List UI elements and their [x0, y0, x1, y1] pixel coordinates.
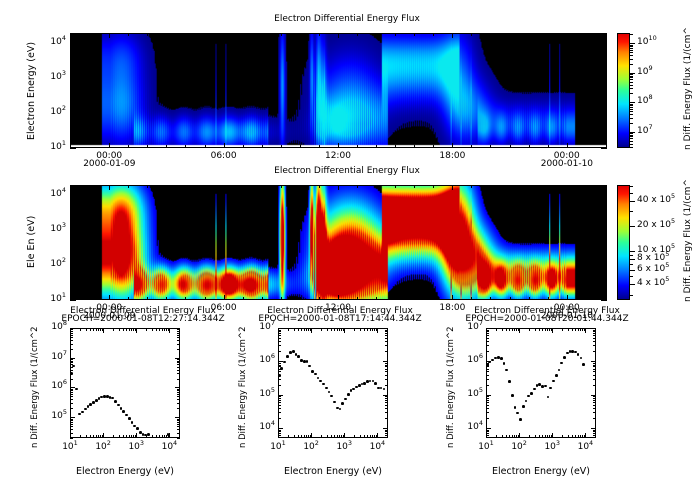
cbtick-top-3: 1010 [637, 37, 657, 47]
data-point [374, 382, 377, 385]
ytick-spectrogram_top-4: 104 [38, 37, 66, 47]
spectrum-3-xtick-2: 102 [503, 442, 535, 452]
spectrum-3-xtick-1: 101 [470, 442, 502, 452]
colorbar-mid [617, 185, 630, 300]
spectrum-2-xtick-2: 102 [295, 442, 327, 452]
data-point [95, 399, 98, 402]
ytick-spectrogram_top-2: 102 [38, 107, 66, 117]
spectrum-1-subtitle: EPOCH=2000-01-08T12:27:14.344Z [50, 314, 236, 324]
colorbar-top [617, 33, 630, 148]
cbtick-mid-4: 6 x 105 [637, 264, 669, 274]
data-point [78, 413, 81, 416]
data-point [322, 383, 325, 386]
xtick-spectrogram_top-2: 12:00 [320, 151, 356, 161]
data-point [125, 414, 128, 417]
spectrum-2-ytick-0: 104 [246, 422, 275, 432]
data-point [120, 407, 123, 410]
data-point [508, 380, 511, 383]
data-point [325, 387, 328, 390]
spectrum-1-ytick-3: 108 [38, 322, 67, 332]
spectrum-3-xtick-4: 104 [569, 442, 601, 452]
xtick-spectrogram_mid-1: 06:00 [206, 303, 242, 313]
spectrum-1-xlabel: Electron Energy (eV) [64, 466, 186, 477]
xtick-spectrogram_top-1: 06:00 [206, 151, 242, 161]
data-point [84, 408, 87, 411]
data-point [344, 398, 347, 401]
spectrum-2-plot [278, 328, 388, 438]
spectrum-1-ytick-1: 106 [38, 381, 67, 391]
data-point [297, 355, 300, 358]
data-point [341, 402, 344, 405]
spectrum-2-ytick-3: 107 [246, 322, 275, 332]
spectrum-3-ytick-3: 107 [454, 322, 483, 332]
data-point [292, 350, 295, 353]
data-point [500, 357, 503, 360]
cbtick-top-0: 107 [637, 126, 653, 136]
data-point [122, 410, 125, 413]
data-point [114, 400, 117, 403]
spectrum-1-xtick-2: 102 [87, 442, 119, 452]
spectrum-3-ytick-2: 106 [454, 355, 483, 365]
data-point [519, 418, 522, 421]
panel-title-top: Electron Differential Energy Flux [247, 14, 447, 24]
data-point [167, 433, 170, 436]
data-point [117, 404, 120, 407]
data-point [314, 373, 317, 376]
data-point [582, 363, 585, 366]
ytick-spectrogram_mid-4: 104 [38, 189, 66, 199]
data-point [533, 388, 536, 391]
colorbar-mid-label: n Diff. Energy Flux (1/(cm^ [683, 179, 693, 302]
data-point [560, 362, 563, 365]
spectrum-1-xtick-3: 103 [120, 442, 152, 452]
data-point [514, 406, 517, 409]
ytick-spectrogram_mid-1: 101 [38, 294, 66, 304]
spectrum-2-xtick-3: 103 [328, 442, 360, 452]
data-point [286, 355, 289, 358]
spectrum-2-xtick-1: 101 [262, 442, 294, 452]
ytick-spectrogram_mid-3: 103 [38, 224, 66, 234]
cbtick-mid-1: 20 x 105 [637, 220, 675, 230]
data-point [136, 427, 139, 430]
data-point [147, 433, 150, 436]
spectrum-3-ytick-0: 104 [454, 422, 483, 432]
ytick-spectrogram_top-1: 101 [38, 142, 66, 152]
spectrum-3-plot [486, 328, 596, 438]
spectrum-3-xtick-3: 103 [536, 442, 568, 452]
data-point [555, 374, 558, 377]
panel-title-mid: Electron Differential Energy Flux [247, 166, 447, 176]
data-point [75, 388, 78, 391]
data-point [319, 380, 322, 383]
cbtick-top-1: 108 [637, 96, 653, 106]
data-point [549, 387, 552, 390]
spectrum-1-ytick-0: 105 [38, 411, 67, 421]
xdate-left-spectrogram_top: 2000-01-09 [83, 159, 135, 169]
spectrogram-top-plot [70, 33, 607, 148]
ytick-spectrogram_mid-2: 102 [38, 259, 66, 269]
xdate-left-spectrogram_mid: 2000-01-09 [83, 311, 135, 321]
spectrum-3-xlabel: Electron Energy (eV) [480, 466, 602, 477]
data-point [552, 380, 555, 383]
axis-label-top-y: Electron Energy (eV) [26, 42, 37, 140]
data-point [530, 392, 533, 395]
spectrum-2-xtick-4: 104 [361, 442, 393, 452]
data-point [347, 393, 350, 396]
spectrum-1-xtick-1: 101 [54, 442, 86, 452]
figure-canvas: Electron Differential Energy Flux Electr… [0, 0, 697, 492]
data-point [92, 401, 95, 404]
colorbar-top-label: n Diff. Energy Flux (1/(cm^ [683, 27, 693, 150]
spectrum-1-plot [70, 328, 180, 438]
data-point [81, 411, 84, 414]
cbtick-mid-0: 40 x 105 [637, 195, 675, 205]
xdate-right-spectrogram_mid: 2000-01-10 [541, 311, 593, 321]
data-point [131, 421, 134, 424]
spectrum-1-ytick-2: 107 [38, 352, 67, 362]
data-point [511, 394, 514, 397]
data-point [486, 363, 489, 366]
xtick-spectrogram_mid-3: 18:00 [434, 303, 470, 313]
data-point [70, 372, 73, 375]
xtick-spectrogram_mid-2: 12:00 [320, 303, 356, 313]
xdate-right-spectrogram_top: 2000-01-10 [541, 159, 593, 169]
data-point [522, 405, 525, 408]
spectrum-2-ytick-1: 105 [246, 389, 275, 399]
spectrum-3-ytick-1: 105 [454, 389, 483, 399]
ytick-spectrogram_top-3: 103 [38, 72, 66, 82]
cbtick-mid-5: 4 x 105 [637, 278, 669, 288]
data-point [563, 356, 566, 359]
axis-label-mid-y: Ele En (eV) [26, 216, 37, 268]
xtick-spectrogram_top-3: 18:00 [434, 151, 470, 161]
cbtick-top-2: 109 [637, 67, 653, 77]
spectrum-1-xtick-4: 104 [153, 442, 185, 452]
spectrum-2-ytick-2: 106 [246, 355, 275, 365]
spectrum-2-xlabel: Electron Energy (eV) [272, 466, 394, 477]
data-point [128, 417, 131, 420]
spectrogram-mid-plot [70, 185, 607, 300]
data-point [278, 374, 281, 377]
